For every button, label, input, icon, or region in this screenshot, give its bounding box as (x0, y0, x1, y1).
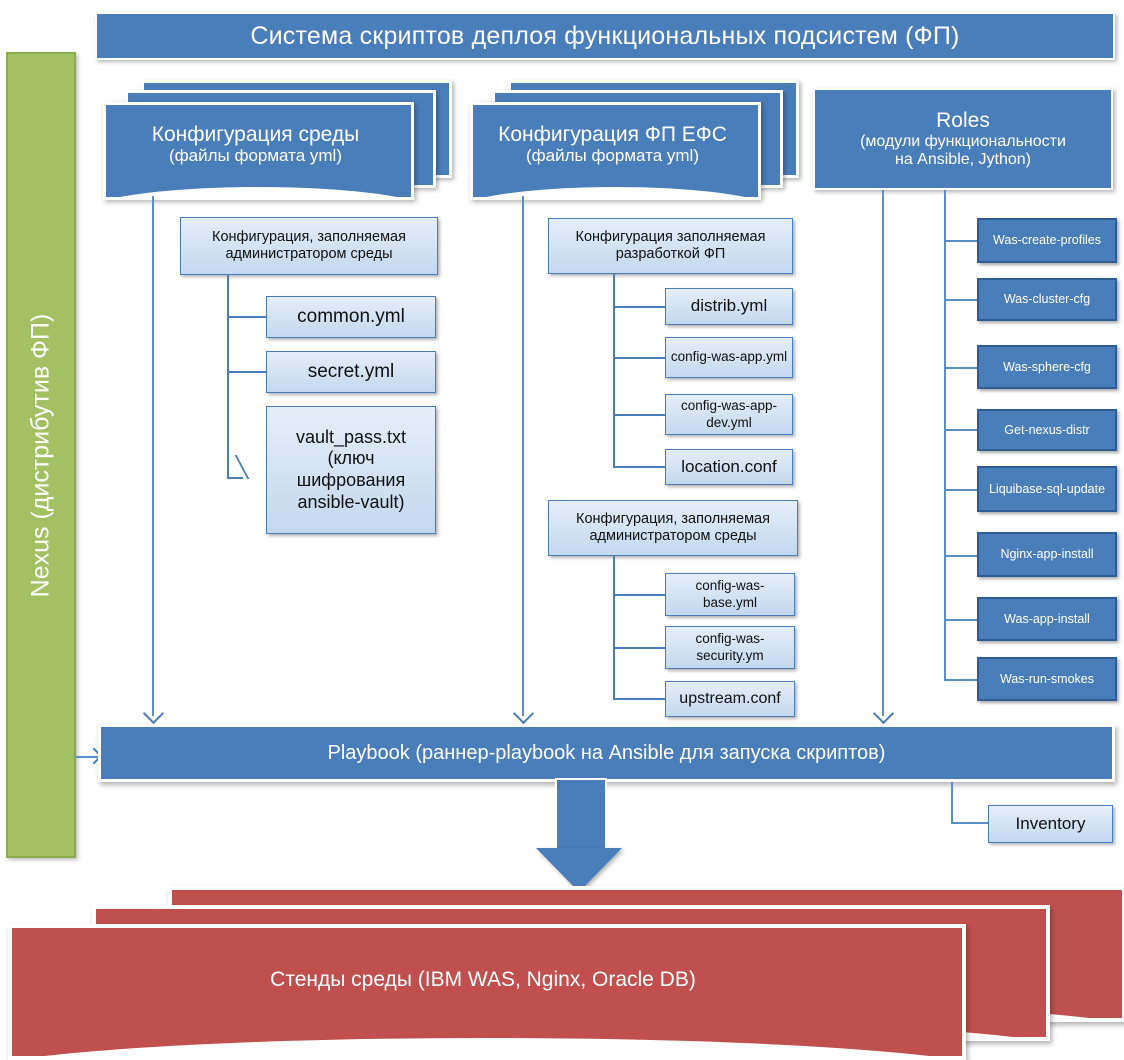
fp-dev-branch-3 (613, 414, 667, 416)
fp-admin-branch-1 (613, 594, 667, 596)
role-was-sphere-cfg[interactable]: Was-sphere-cfg (977, 345, 1117, 389)
roles-branch-1 (944, 240, 978, 242)
fp-dev-branch-2 (613, 357, 667, 359)
fp-admin-tree-trunk (613, 556, 615, 699)
fp-admin-branch-2 (613, 647, 667, 649)
env-tree-branch-3a (227, 477, 243, 479)
stands-stack[interactable]: Стенды среды (IBM WAS, Nginx, Oracle DB) (8, 886, 1118, 1051)
playbook-to-stands-arrow (536, 778, 622, 890)
arrowhead-env-to-playbook (143, 703, 164, 724)
nexus-sidebar-label: Nexus (дистрибутив ФП) (27, 313, 56, 597)
role-was-create-profiles[interactable]: Was-create-profiles (977, 218, 1117, 263)
node-upstream-conf[interactable]: upstream.conf (665, 681, 795, 717)
node-location-conf[interactable]: location.conf (665, 449, 793, 485)
node-config-was-app-yml[interactable]: config-was-app.yml (665, 337, 793, 378)
inventory-label: Inventory (1016, 814, 1086, 834)
node-secret-yml[interactable]: secret.yml (266, 351, 436, 393)
node-common-yml-label: common.yml (297, 306, 405, 329)
node-distrib-yml-label: distrib.yml (691, 296, 768, 316)
node-config-was-app-dev-yml[interactable]: config-was-app-dev.yml (665, 394, 793, 435)
roles-branch-4 (944, 429, 978, 431)
fp-dev-group-label: Конфигурация заполняемая разработкой ФП (553, 229, 788, 264)
role-was-create-profiles-label: Was-create-profiles (993, 233, 1101, 248)
role-was-app-install-label: Was-app-install (1004, 612, 1090, 627)
node-vault-pass-txt[interactable]: vault_pass.txt (ключ шифрования ansible-… (266, 406, 436, 534)
node-config-was-base-yml-label: config-was-base.yml (670, 578, 790, 610)
node-config-was-security-ym-label: config-was-security.ym (670, 631, 790, 663)
fp-dev-group-box[interactable]: Конфигурация заполняемая разработкой ФП (548, 218, 793, 274)
role-liquibase-sql-update-label: Liquibase-sql-update (989, 482, 1105, 497)
env-config-stack[interactable]: Конфигурация среды (файлы формата yml) (103, 80, 453, 200)
node-config-was-base-yml[interactable]: config-was-base.yml (665, 573, 795, 616)
node-upstream-conf-label: upstream.conf (679, 689, 780, 708)
node-vault-pass-txt-label: vault_pass.txt (ключ шифрования ansible-… (271, 427, 431, 513)
page-title: Система скриптов деплоя функциональных п… (95, 12, 1115, 60)
roles-tree-trunk (944, 190, 946, 680)
nexus-sidebar: Nexus (дистрибутив ФП) (6, 52, 76, 858)
fp-config-stack[interactable]: Конфигурация ФП ЕФС (файлы формата yml) (470, 80, 790, 200)
role-was-cluster-cfg-label: Was-cluster-cfg (1004, 292, 1090, 307)
node-config-was-app-yml-label: config-was-app.yml (671, 349, 787, 365)
roles-title: Roles (936, 109, 990, 133)
node-config-was-security-ym[interactable]: config-was-security.ym (665, 626, 795, 669)
role-was-cluster-cfg[interactable]: Was-cluster-cfg (977, 278, 1117, 321)
role-nginx-app-install-label: Nginx-app-install (1000, 547, 1093, 562)
role-was-app-install[interactable]: Was-app-install (977, 597, 1117, 641)
page-title-text: Система скриптов деплоя функциональных п… (250, 22, 959, 51)
env-config-front (103, 102, 414, 200)
env-admin-group-box[interactable]: Конфигурация, заполняемая администраторо… (180, 217, 438, 275)
playbook-bar[interactable]: Playbook (раннер-playbook на Ansible для… (98, 724, 1115, 782)
roles-branch-2 (944, 299, 978, 301)
fp-dev-tree-trunk (613, 274, 615, 468)
arrowhead-fp-to-playbook (513, 703, 534, 724)
role-nginx-app-install[interactable]: Nginx-app-install (977, 532, 1117, 577)
roles-branch-7 (944, 619, 978, 621)
role-was-run-smokes[interactable]: Was-run-smokes (977, 657, 1117, 701)
role-get-nexus-distr[interactable]: Get-nexus-distr (977, 409, 1117, 451)
roles-branch-6 (944, 555, 978, 557)
env-tree-branch-1 (227, 316, 267, 318)
role-was-run-smokes-label: Was-run-smokes (1000, 672, 1094, 687)
connector-fp-to-playbook (522, 196, 524, 716)
env-admin-group-label: Конфигурация, заполняемая администраторо… (185, 229, 433, 264)
connector-env-to-playbook (152, 196, 154, 716)
role-was-sphere-cfg-label: Was-sphere-cfg (1003, 360, 1091, 375)
fp-dev-branch-1 (613, 306, 667, 308)
fp-config-front (470, 102, 761, 200)
role-liquibase-sql-update[interactable]: Liquibase-sql-update (977, 466, 1117, 512)
connector-roles-to-playbook (882, 190, 884, 716)
fp-admin-branch-3 (613, 698, 667, 700)
connector-playbook-to-inventory-h (951, 822, 989, 824)
fp-admin-group-box[interactable]: Конфигурация, заполняемая администраторо… (548, 500, 798, 556)
node-location-conf-label: location.conf (681, 457, 776, 477)
node-distrib-yml[interactable]: distrib.yml (665, 288, 793, 325)
roles-branch-5 (944, 489, 978, 491)
roles-subtitle-line1: (модули функциональности (860, 133, 1066, 151)
env-tree-trunk (227, 275, 229, 478)
env-tree-branch-2 (227, 371, 267, 373)
roles-box[interactable]: Roles (модули функциональности на Ansibl… (813, 88, 1113, 190)
node-config-was-app-dev-yml-label: config-was-app-dev.yml (670, 398, 788, 430)
connector-playbook-to-inventory-v (951, 782, 953, 823)
node-common-yml[interactable]: common.yml (266, 296, 436, 338)
role-get-nexus-distr-label: Get-nexus-distr (1004, 423, 1089, 438)
inventory-box[interactable]: Inventory (988, 805, 1113, 843)
roles-branch-3 (944, 367, 978, 369)
stands-front (8, 924, 966, 1060)
roles-branch-8 (944, 679, 978, 681)
arrowhead-roles-to-playbook (873, 703, 894, 724)
playbook-label: Playbook (раннер-playbook на Ansible для… (328, 742, 886, 765)
roles-subtitle-line2: на Ansible, Jython) (895, 151, 1031, 169)
fp-admin-group-label: Конфигурация, заполняемая администраторо… (553, 511, 793, 546)
node-secret-yml-label: secret.yml (308, 361, 395, 384)
fp-dev-branch-4 (613, 466, 667, 468)
